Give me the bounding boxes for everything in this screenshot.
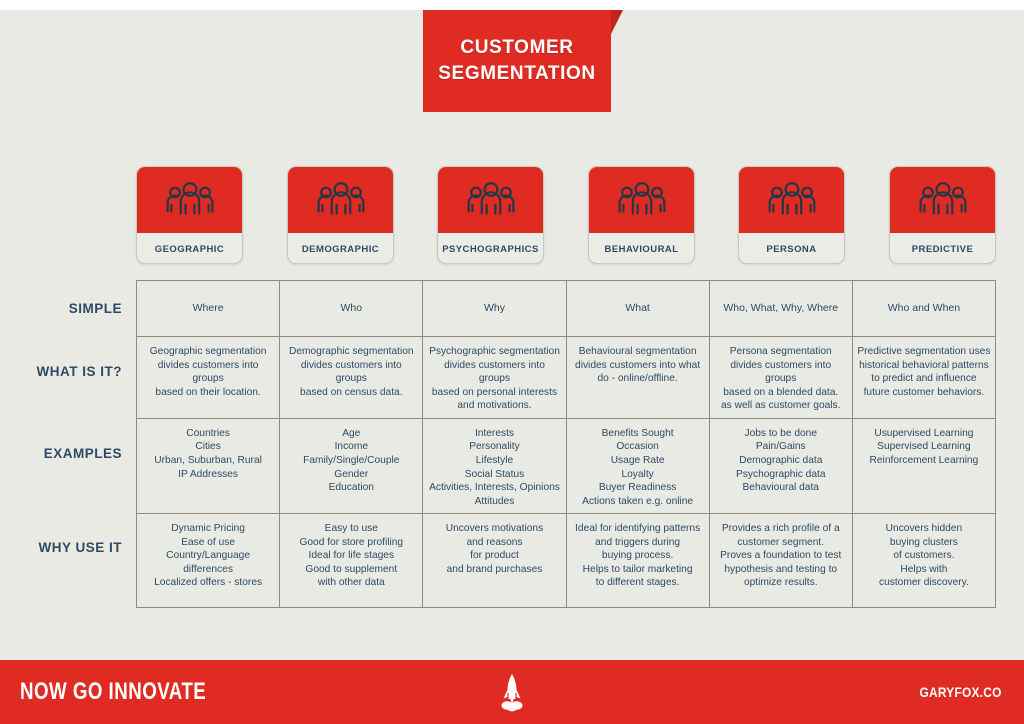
people-group-icon <box>288 167 393 233</box>
table-cell: Demographic segmentationdivides customer… <box>280 337 423 419</box>
segment-card-label: GEOGRAPHIC <box>137 233 242 264</box>
segment-card-predictive[interactable]: PREDICTIVE <box>889 166 996 264</box>
table-cell: Psychographic segmentationdivides custom… <box>423 337 566 419</box>
table-cell: InterestsPersonalityLifestyleSocial Stat… <box>423 418 566 513</box>
row-label-simple: SIMPLE <box>0 280 136 336</box>
table-cell: Behavioural segmentationdivides customer… <box>566 337 709 419</box>
segment-card-behavioural[interactable]: BEHAVIOURAL <box>588 166 695 264</box>
table-cell: Who <box>280 281 423 337</box>
segment-card-geographic[interactable]: GEOGRAPHIC <box>136 166 243 264</box>
infographic-canvas: CUSTOMER SEGMENTATION GEOGRAPHIC <box>0 0 1024 724</box>
footer-brand: GARYFOX.CO <box>920 684 1002 700</box>
table-cell: Where <box>137 281 280 337</box>
segment-card-label: PREDICTIVE <box>890 233 995 264</box>
segment-card-row: GEOGRAPHIC DEMOGRAPHIC PSYCHOGRAPHICS <box>136 166 996 264</box>
table-cell: Persona segmentationdivides customers in… <box>709 337 852 419</box>
table-cell: What <box>566 281 709 337</box>
table-cell: Benefits SoughtOccasionUsage RateLoyalty… <box>566 418 709 513</box>
people-group-icon <box>589 167 694 233</box>
rocket-icon <box>499 672 525 712</box>
row-label-why-use-it: WHY USE IT <box>0 500 136 594</box>
segment-card-psychographics[interactable]: PSYCHOGRAPHICS <box>437 166 544 264</box>
table-row: Geographic segmentationdivides customers… <box>137 337 996 419</box>
row-label-column: SIMPLEWHAT IS IT?EXAMPLESWHY USE IT <box>0 280 136 594</box>
banner-fold-corner <box>611 10 623 34</box>
segmentation-table: WhereWhoWhyWhatWho, What, Why, WhereWho … <box>136 280 996 608</box>
page-title-line2: SEGMENTATION <box>438 61 595 87</box>
table-cell: Who and When <box>852 281 995 337</box>
table-cell: Uncovers hiddenbuying clustersof custome… <box>852 514 995 608</box>
row-label-examples: EXAMPLES <box>0 406 136 500</box>
table-cell: Ideal for identifying patternsand trigge… <box>566 514 709 608</box>
footer-bar: NOW GO INNOVATE GARYFOX.CO <box>0 660 1024 724</box>
segment-card-label: DEMOGRAPHIC <box>288 233 393 264</box>
segment-card-label: PERSONA <box>739 233 844 264</box>
people-group-icon <box>890 167 995 233</box>
table-cell: Predictive segmentation useshistorical b… <box>852 337 995 419</box>
table-cell: Dynamic PricingEase of useCountry/Langua… <box>137 514 280 608</box>
row-label-what-is-it: WHAT IS IT? <box>0 336 136 406</box>
banner-body: CUSTOMER SEGMENTATION <box>423 10 611 112</box>
segment-card-label: PSYCHOGRAPHICS <box>438 233 543 264</box>
table-cell: Geographic segmentationdivides customers… <box>137 337 280 419</box>
table-cell: Usupervised LearningSupervised LearningR… <box>852 418 995 513</box>
table-row: WhereWhoWhyWhatWho, What, Why, WhereWho … <box>137 281 996 337</box>
title-banner: CUSTOMER SEGMENTATION <box>423 10 623 112</box>
table-cell: Easy to useGood for store profilingIdeal… <box>280 514 423 608</box>
people-group-icon <box>137 167 242 233</box>
segment-card-demographic[interactable]: DEMOGRAPHIC <box>287 166 394 264</box>
segment-card-label: BEHAVIOURAL <box>589 233 694 264</box>
page-title: CUSTOMER SEGMENTATION <box>438 35 595 86</box>
table-cell: AgeIncomeFamily/Single/CoupleGenderEduca… <box>280 418 423 513</box>
table-cell: Jobs to be donePain/GainsDemographic dat… <box>709 418 852 513</box>
table-row: CountriesCitiesUrban, Suburban, RuralIP … <box>137 418 996 513</box>
people-group-icon <box>739 167 844 233</box>
page-title-line1: CUSTOMER <box>438 35 595 61</box>
segment-card-persona[interactable]: PERSONA <box>738 166 845 264</box>
table-cell: Provides a rich profile of acustomer seg… <box>709 514 852 608</box>
table-row: Dynamic PricingEase of useCountry/Langua… <box>137 514 996 608</box>
footer-slogan: NOW GO INNOVATE <box>20 678 206 706</box>
table-cell: Uncovers motivationsand reasonsfor produ… <box>423 514 566 608</box>
table-cell: Why <box>423 281 566 337</box>
table-cell: Who, What, Why, Where <box>709 281 852 337</box>
table-cell: CountriesCitiesUrban, Suburban, RuralIP … <box>137 418 280 513</box>
people-group-icon <box>438 167 543 233</box>
